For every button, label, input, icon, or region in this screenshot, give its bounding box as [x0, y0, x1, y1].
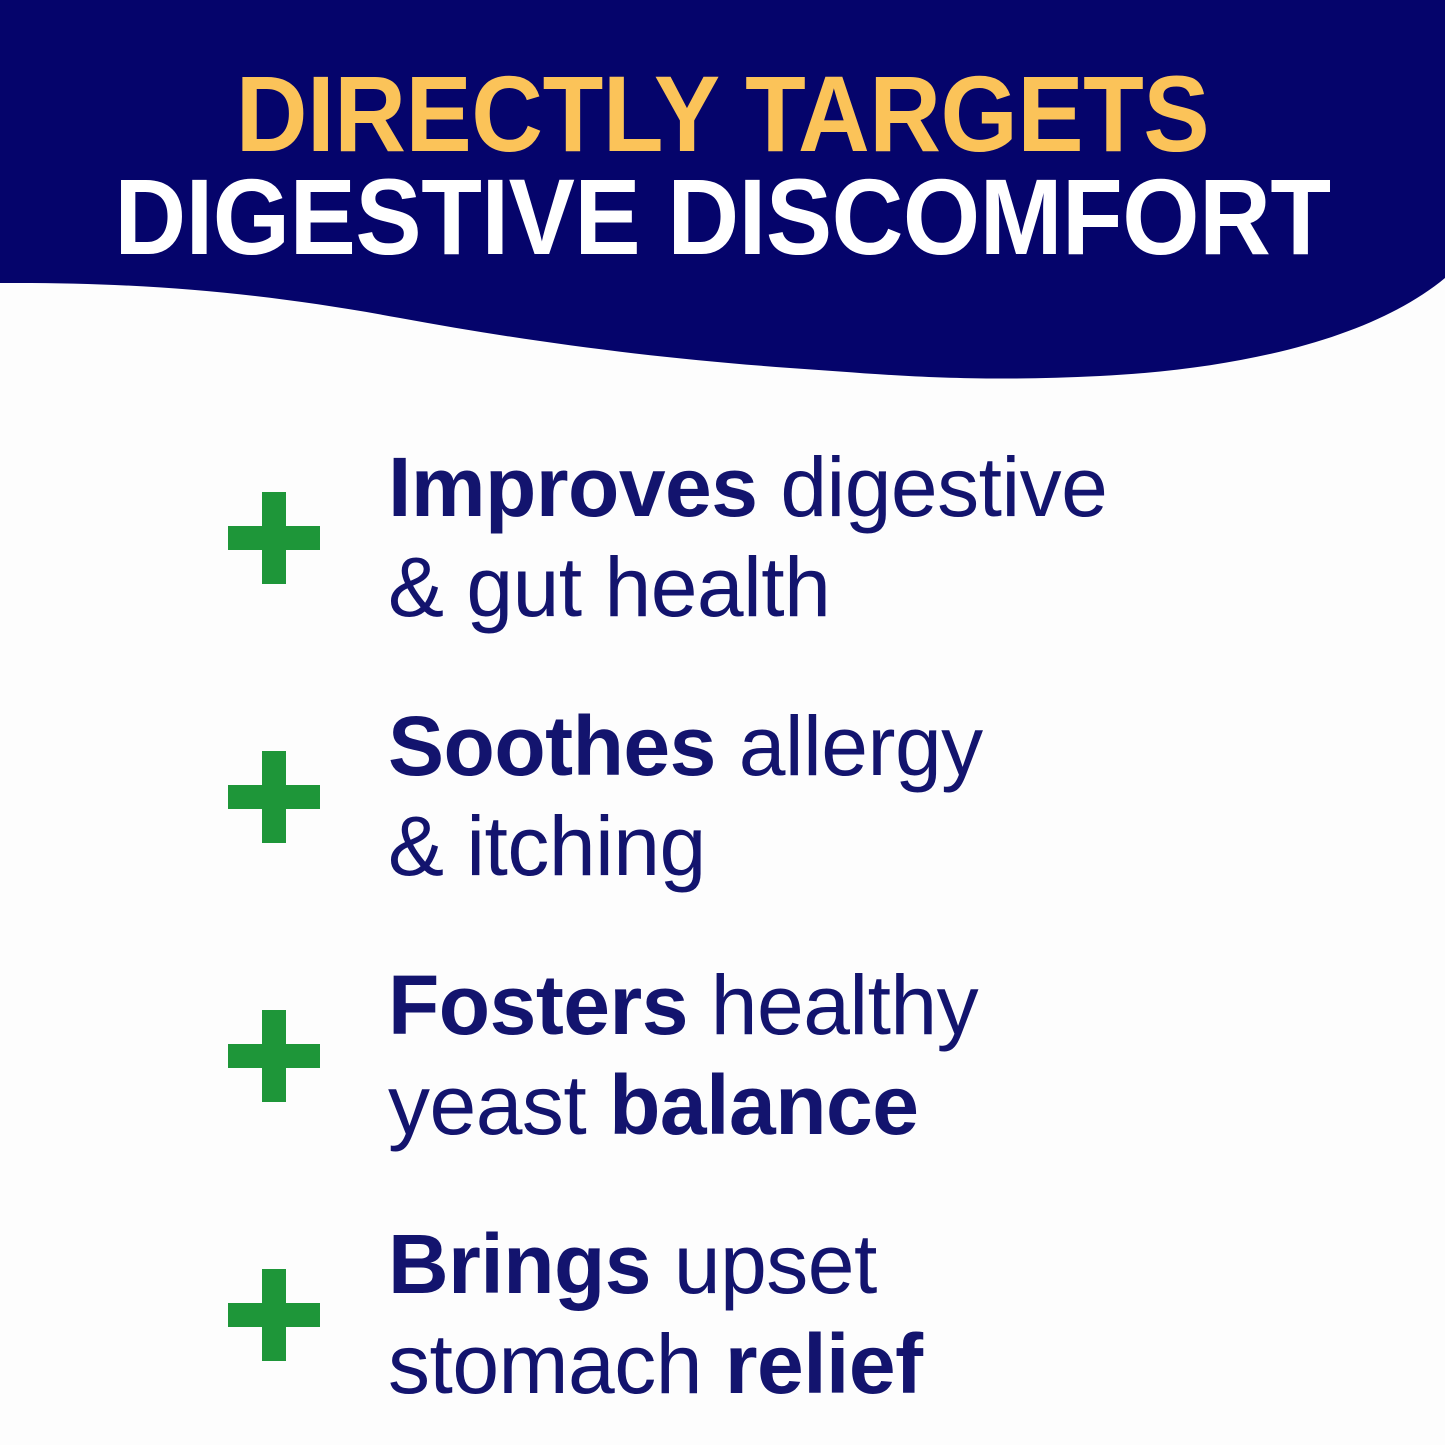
plus-icon	[228, 1269, 320, 1361]
benefit-line-2-plain: stomach	[388, 1318, 725, 1412]
plus-icon	[228, 751, 320, 843]
plus-icon-vertical-bar	[262, 1269, 286, 1361]
benefit-lead-word: Soothes	[388, 699, 716, 793]
benefit-text-line-2: yeast balance	[388, 1056, 1348, 1157]
benefit-line-1-rest: allergy	[716, 699, 983, 793]
headline-line-secondary: DIGESTIVE DISCOMFORT	[58, 163, 1387, 271]
benefit-line-2-plain: & gut health	[388, 541, 830, 635]
plus-icon	[228, 492, 320, 584]
benefit-line-1-rest: digestive	[758, 440, 1108, 534]
benefit-text: Soothes allergy& itching	[388, 696, 1348, 898]
plus-icon-vertical-bar	[262, 751, 286, 843]
benefit-text: Improves digestive& gut health	[388, 437, 1348, 639]
benefit-text-line-2: & gut health	[388, 538, 1348, 639]
benefit-item: Soothes allergy& itching	[0, 667, 1445, 926]
plus-icon-vertical-bar	[262, 492, 286, 584]
benefit-text-line-2: & itching	[388, 797, 1348, 898]
benefit-item: Fosters healthyyeast balance	[0, 926, 1445, 1185]
benefit-item: Improves digestive& gut health	[0, 408, 1445, 667]
benefit-text: Fosters healthyyeast balance	[388, 955, 1348, 1157]
header-banner: DIRECTLY TARGETS DIGESTIVE DISCOMFORT	[0, 0, 1445, 390]
benefit-line-2-plain: yeast	[388, 1059, 609, 1153]
benefit-lead-word: Improves	[388, 440, 758, 534]
benefit-line-2-emphasis: relief	[725, 1318, 923, 1412]
benefits-list: Improves digestive& gut health Soothes a…	[0, 408, 1445, 1444]
benefit-item: Brings upsetstomach relief	[0, 1185, 1445, 1444]
benefit-line-1-rest: healthy	[688, 958, 978, 1052]
benefit-line-2-plain: & itching	[388, 800, 706, 894]
benefit-text-line-1: Soothes allergy	[388, 696, 1348, 797]
benefit-text-line-1: Improves digestive	[388, 437, 1348, 538]
benefit-lead-word: Fosters	[388, 958, 688, 1052]
benefit-text-line-2: stomach relief	[388, 1315, 1348, 1416]
benefit-line-1-rest: upset	[651, 1217, 877, 1311]
benefit-text-line-1: Fosters healthy	[388, 955, 1348, 1056]
headline-line-primary: DIRECTLY TARGETS	[58, 60, 1387, 168]
plus-icon-vertical-bar	[262, 1010, 286, 1102]
benefit-text-line-1: Brings upset	[388, 1214, 1348, 1315]
benefit-text: Brings upsetstomach relief	[388, 1214, 1348, 1416]
benefit-lead-word: Brings	[388, 1217, 651, 1311]
benefit-line-2-emphasis: balance	[609, 1059, 918, 1153]
plus-icon	[228, 1010, 320, 1102]
